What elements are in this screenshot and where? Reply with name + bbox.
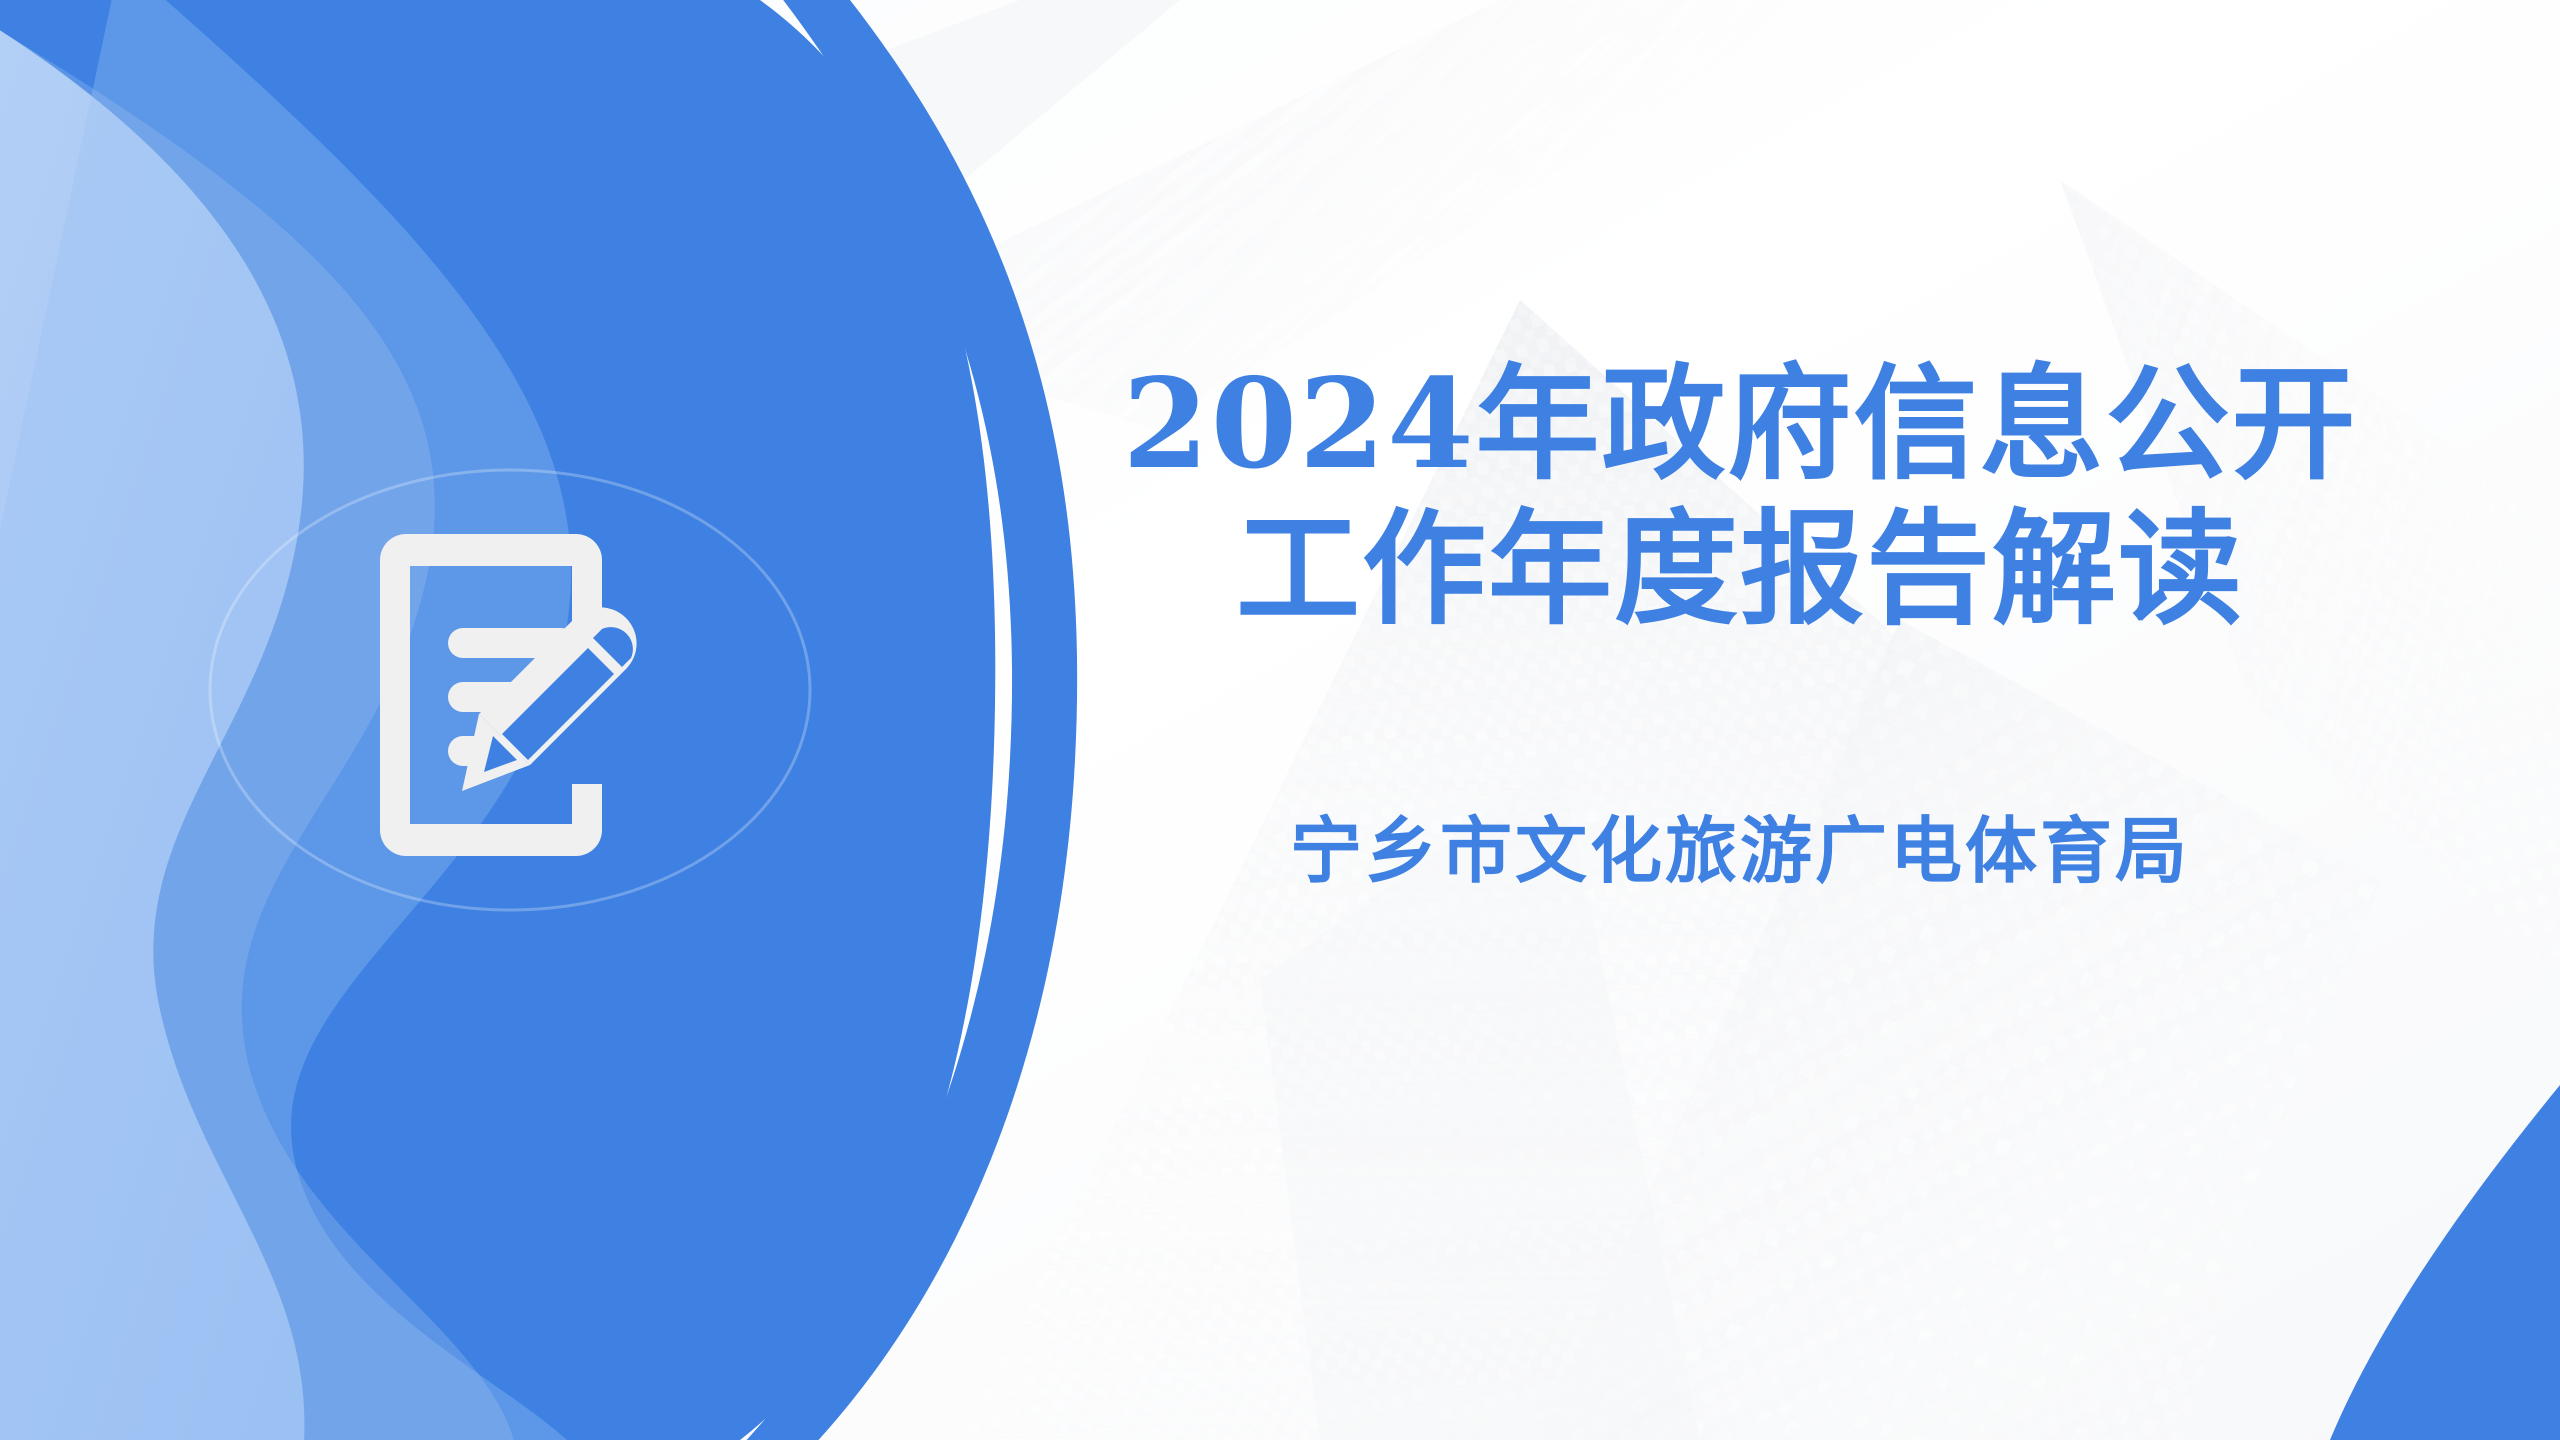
page-title: 2024年政府信息公开 工作年度报告解读 [1100,352,2380,642]
document-edit-icon [348,530,688,860]
title-line-1: 2024年政府信息公开 [1100,352,2380,497]
subtitle: 宁乡市文化旅游广电体育局 [1100,792,2380,897]
title-slide: 2024年政府信息公开 工作年度报告解读 宁乡市文化旅游广电体育局 [0,0,2560,1440]
title-line-2: 工作年度报告解读 [1100,497,2380,642]
